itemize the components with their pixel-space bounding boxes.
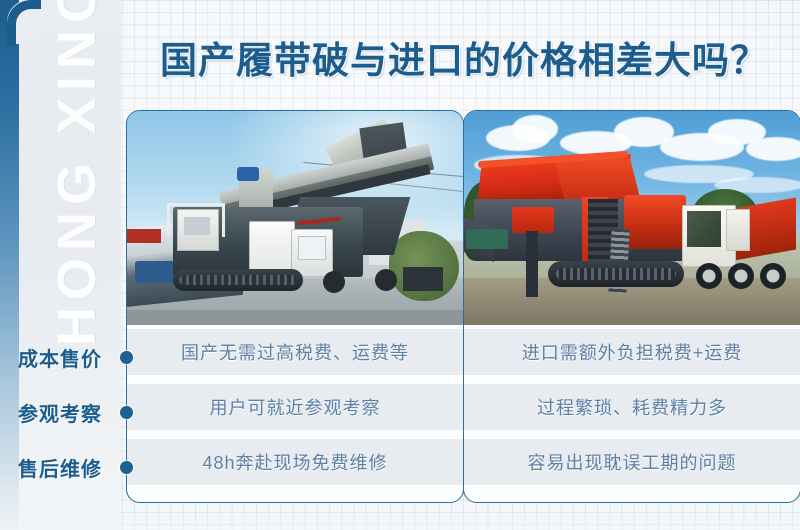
comparison-card-imported: 进口需额外负担税费+运费 过程繁琐、耗费精力多 容易出现耽误工期的问题 — [463, 110, 800, 503]
page-title: 国产履带破与进口的价格相差大吗？ — [160, 28, 780, 86]
platform-railing-post — [222, 203, 225, 237]
operator-cabinet — [177, 209, 219, 251]
bullet-dot-icon — [120, 351, 133, 364]
feature-row: 过程繁琐、耗费精力多 — [464, 384, 800, 430]
brand-watermark: HONG XING — [46, 16, 108, 346]
side-cabinet — [726, 209, 750, 251]
trailer-wheel — [728, 263, 754, 289]
cloud — [512, 115, 558, 143]
poster-canvas: HONG XING 国产履带破与进口的价格相差大吗？ — [0, 0, 800, 530]
control-panel-window — [298, 236, 326, 260]
feature-row: 国产无需过高税费、运费等 — [127, 329, 463, 375]
domestic-tracked-crusher-photo — [127, 111, 463, 325]
trailer-wheel — [696, 263, 722, 289]
cabinet-window — [184, 217, 210, 235]
feature-row-list-domestic: 国产无需过高税费、运费等 用户可就近参观考察 48h奔赴现场免费维修 — [127, 329, 463, 485]
category-label-cost: 成本售价 — [8, 342, 112, 372]
feature-row-list-imported: 进口需额外负担税费+运费 过程繁琐、耗费精力多 容易出现耽误工期的问题 — [464, 329, 800, 485]
trailer-wheel — [760, 263, 786, 289]
bullet-dot-icon — [120, 461, 133, 474]
background-red-part — [127, 229, 161, 243]
platform-railing — [167, 203, 225, 206]
trailer-axles — [696, 263, 788, 291]
support-wheel — [323, 271, 345, 293]
brand-sidebar: HONG XING — [0, 0, 121, 530]
category-label-visit: 参观考察 — [8, 397, 112, 427]
red-access-panel — [512, 207, 554, 233]
conveyor-motor — [237, 167, 259, 181]
category-label-service: 售后维修 — [8, 452, 112, 482]
sidebar-blue-stripe — [0, 0, 19, 530]
cloud — [746, 137, 800, 161]
feature-row: 48h奔赴现场免费维修 — [127, 439, 463, 485]
feature-row: 进口需额外负担税费+运费 — [464, 329, 800, 375]
bullet-dot-icon — [120, 406, 133, 419]
feature-row: 用户可就近参观考察 — [127, 384, 463, 430]
background-green-machine — [466, 229, 508, 249]
crawler-track — [548, 261, 684, 287]
platform-railing-post — [167, 203, 170, 237]
feature-row: 容易出现耽误工期的问题 — [464, 439, 800, 485]
support-wheel — [375, 269, 397, 291]
imported-tracked-crusher-photo — [464, 111, 800, 325]
crawler-track — [173, 269, 303, 291]
comparison-card-domestic: 国产无需过高税费、运费等 用户可就近参观考察 48h奔赴现场免费维修 — [126, 110, 464, 503]
cabin-window — [687, 211, 721, 247]
support-jack — [403, 267, 443, 291]
outrigger-leg — [526, 231, 538, 297]
foreground-road — [127, 310, 463, 325]
engine-housing — [624, 195, 686, 249]
